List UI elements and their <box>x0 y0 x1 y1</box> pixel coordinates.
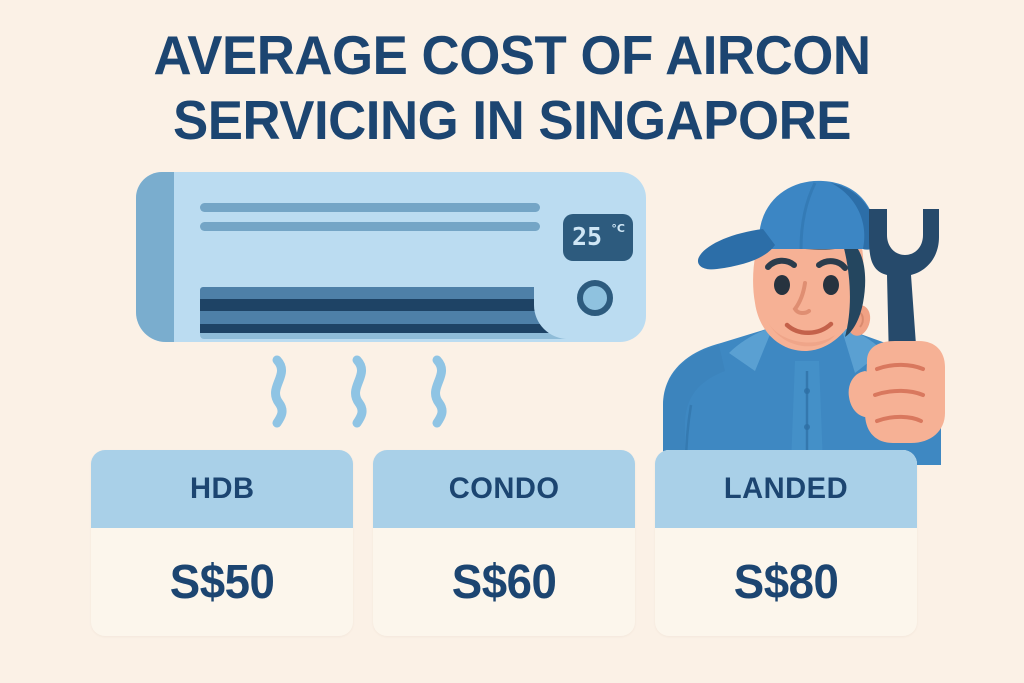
price-card-header: LANDED <box>655 450 917 528</box>
vent-stripe <box>200 287 566 299</box>
temperature-unit: °C <box>611 223 625 235</box>
power-indicator-icon[interactable] <box>577 280 613 316</box>
vent-stripe <box>200 333 566 339</box>
wrench-icon <box>869 209 939 361</box>
price-card-body: S$60 <box>373 528 635 636</box>
page-title: AVERAGE COST OF AIRCON SERVICING IN SING… <box>0 24 1024 154</box>
price-card-header: CONDO <box>373 450 635 528</box>
infographic-canvas: AVERAGE COST OF AIRCON SERVICING IN SING… <box>0 0 1024 683</box>
title-line-1: AVERAGE COST OF AIRCON <box>20 24 1003 89</box>
airflow-wave-icon <box>356 360 363 423</box>
aircon-side-panel <box>136 172 174 342</box>
price-card-body: S$80 <box>655 528 917 636</box>
price-card-value: S$50 <box>170 555 275 610</box>
price-card-body: S$50 <box>91 528 353 636</box>
price-card-header: HDB <box>91 450 353 528</box>
vent-stripe <box>200 311 566 324</box>
temperature-value: 25 <box>572 223 602 251</box>
price-card-label: LANDED <box>724 472 848 506</box>
temperature-display: 25 °C <box>563 214 633 261</box>
price-card-value: S$80 <box>734 555 839 610</box>
aircon-grille-line <box>200 222 540 231</box>
title-line-2: SERVICING IN SINGAPORE <box>20 89 1003 154</box>
aircon-vent <box>200 287 566 339</box>
price-card-landed[interactable]: LANDED S$80 <box>655 450 917 636</box>
price-card-value: S$60 <box>452 555 557 610</box>
airflow-icon-group <box>265 355 465 430</box>
aircon-grille-line <box>200 203 540 212</box>
air-conditioner-icon: 25 °C <box>136 172 646 342</box>
vent-stripe <box>200 324 566 333</box>
technician-illustration <box>655 175 955 465</box>
vent-stripe <box>200 299 566 311</box>
price-card-label: CONDO <box>449 472 560 506</box>
airflow-wave-icon <box>436 360 443 423</box>
price-card-hdb[interactable]: HDB S$50 <box>91 450 353 636</box>
price-card-condo[interactable]: CONDO S$60 <box>373 450 635 636</box>
price-card-label: HDB <box>190 472 255 506</box>
airflow-wave-icon <box>276 360 283 423</box>
